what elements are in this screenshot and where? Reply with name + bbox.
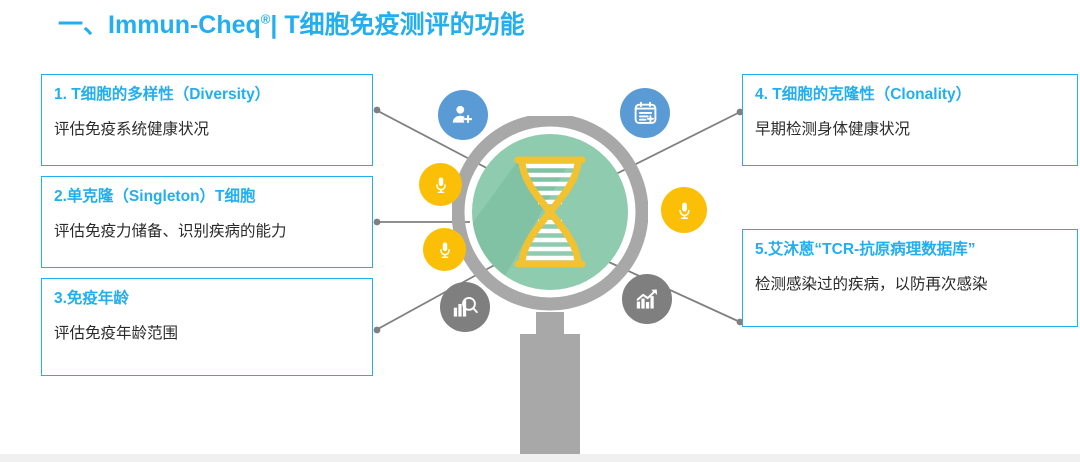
feature-card-4-heading: 4. T细胞的克隆性（Clonality） <box>755 84 1065 106</box>
feature-card-4[interactable]: 4. T细胞的克隆性（Clonality） 早期检测身体健康状况 <box>742 74 1078 166</box>
feature-card-2-body: 评估免疫力储备、识别疾病的能力 <box>54 221 360 243</box>
footer-strip <box>0 454 1080 462</box>
report-document-icon[interactable] <box>620 88 670 138</box>
feature-card-1[interactable]: 1. T细胞的多样性（Diversity） 评估免疫系统健康状况 <box>41 74 373 166</box>
feature-card-2-heading: 2.单克隆（Singleton）T细胞 <box>54 186 360 208</box>
feature-card-3-body: 评估免疫年龄范围 <box>54 323 360 345</box>
growth-chart-icon[interactable] <box>622 274 672 324</box>
add-user-icon[interactable] <box>438 90 488 140</box>
feature-card-5-body: 检测感染过的疾病，以防再次感染 <box>755 274 1065 296</box>
feature-card-5[interactable]: 5.艾沐蒽“TCR-抗原病理数据库” 检测感染过的疾病，以防再次感染 <box>742 229 1078 327</box>
microphone-icon[interactable] <box>661 187 707 233</box>
chart-search-icon[interactable] <box>440 282 490 332</box>
microphone-icon[interactable] <box>423 228 466 271</box>
microphone-icon[interactable] <box>419 163 462 206</box>
feature-card-4-body: 早期检测身体健康状况 <box>755 119 1065 141</box>
feature-card-5-heading: 5.艾沐蒽“TCR-抗原病理数据库” <box>755 239 1065 261</box>
feature-card-2[interactable]: 2.单克隆（Singleton）T细胞 评估免疫力储备、识别疾病的能力 <box>41 176 373 268</box>
feature-card-3-heading: 3.免疫年龄 <box>54 288 360 310</box>
feature-card-1-body: 评估免疫系统健康状况 <box>54 119 360 141</box>
slide-canvas: 一、Immun-Cheq®| T细胞免疫测评的功能 <box>0 0 1080 462</box>
feature-card-3[interactable]: 3.免疫年龄 评估免疫年龄范围 <box>41 278 373 376</box>
feature-card-1-heading: 1. T细胞的多样性（Diversity） <box>54 84 360 106</box>
